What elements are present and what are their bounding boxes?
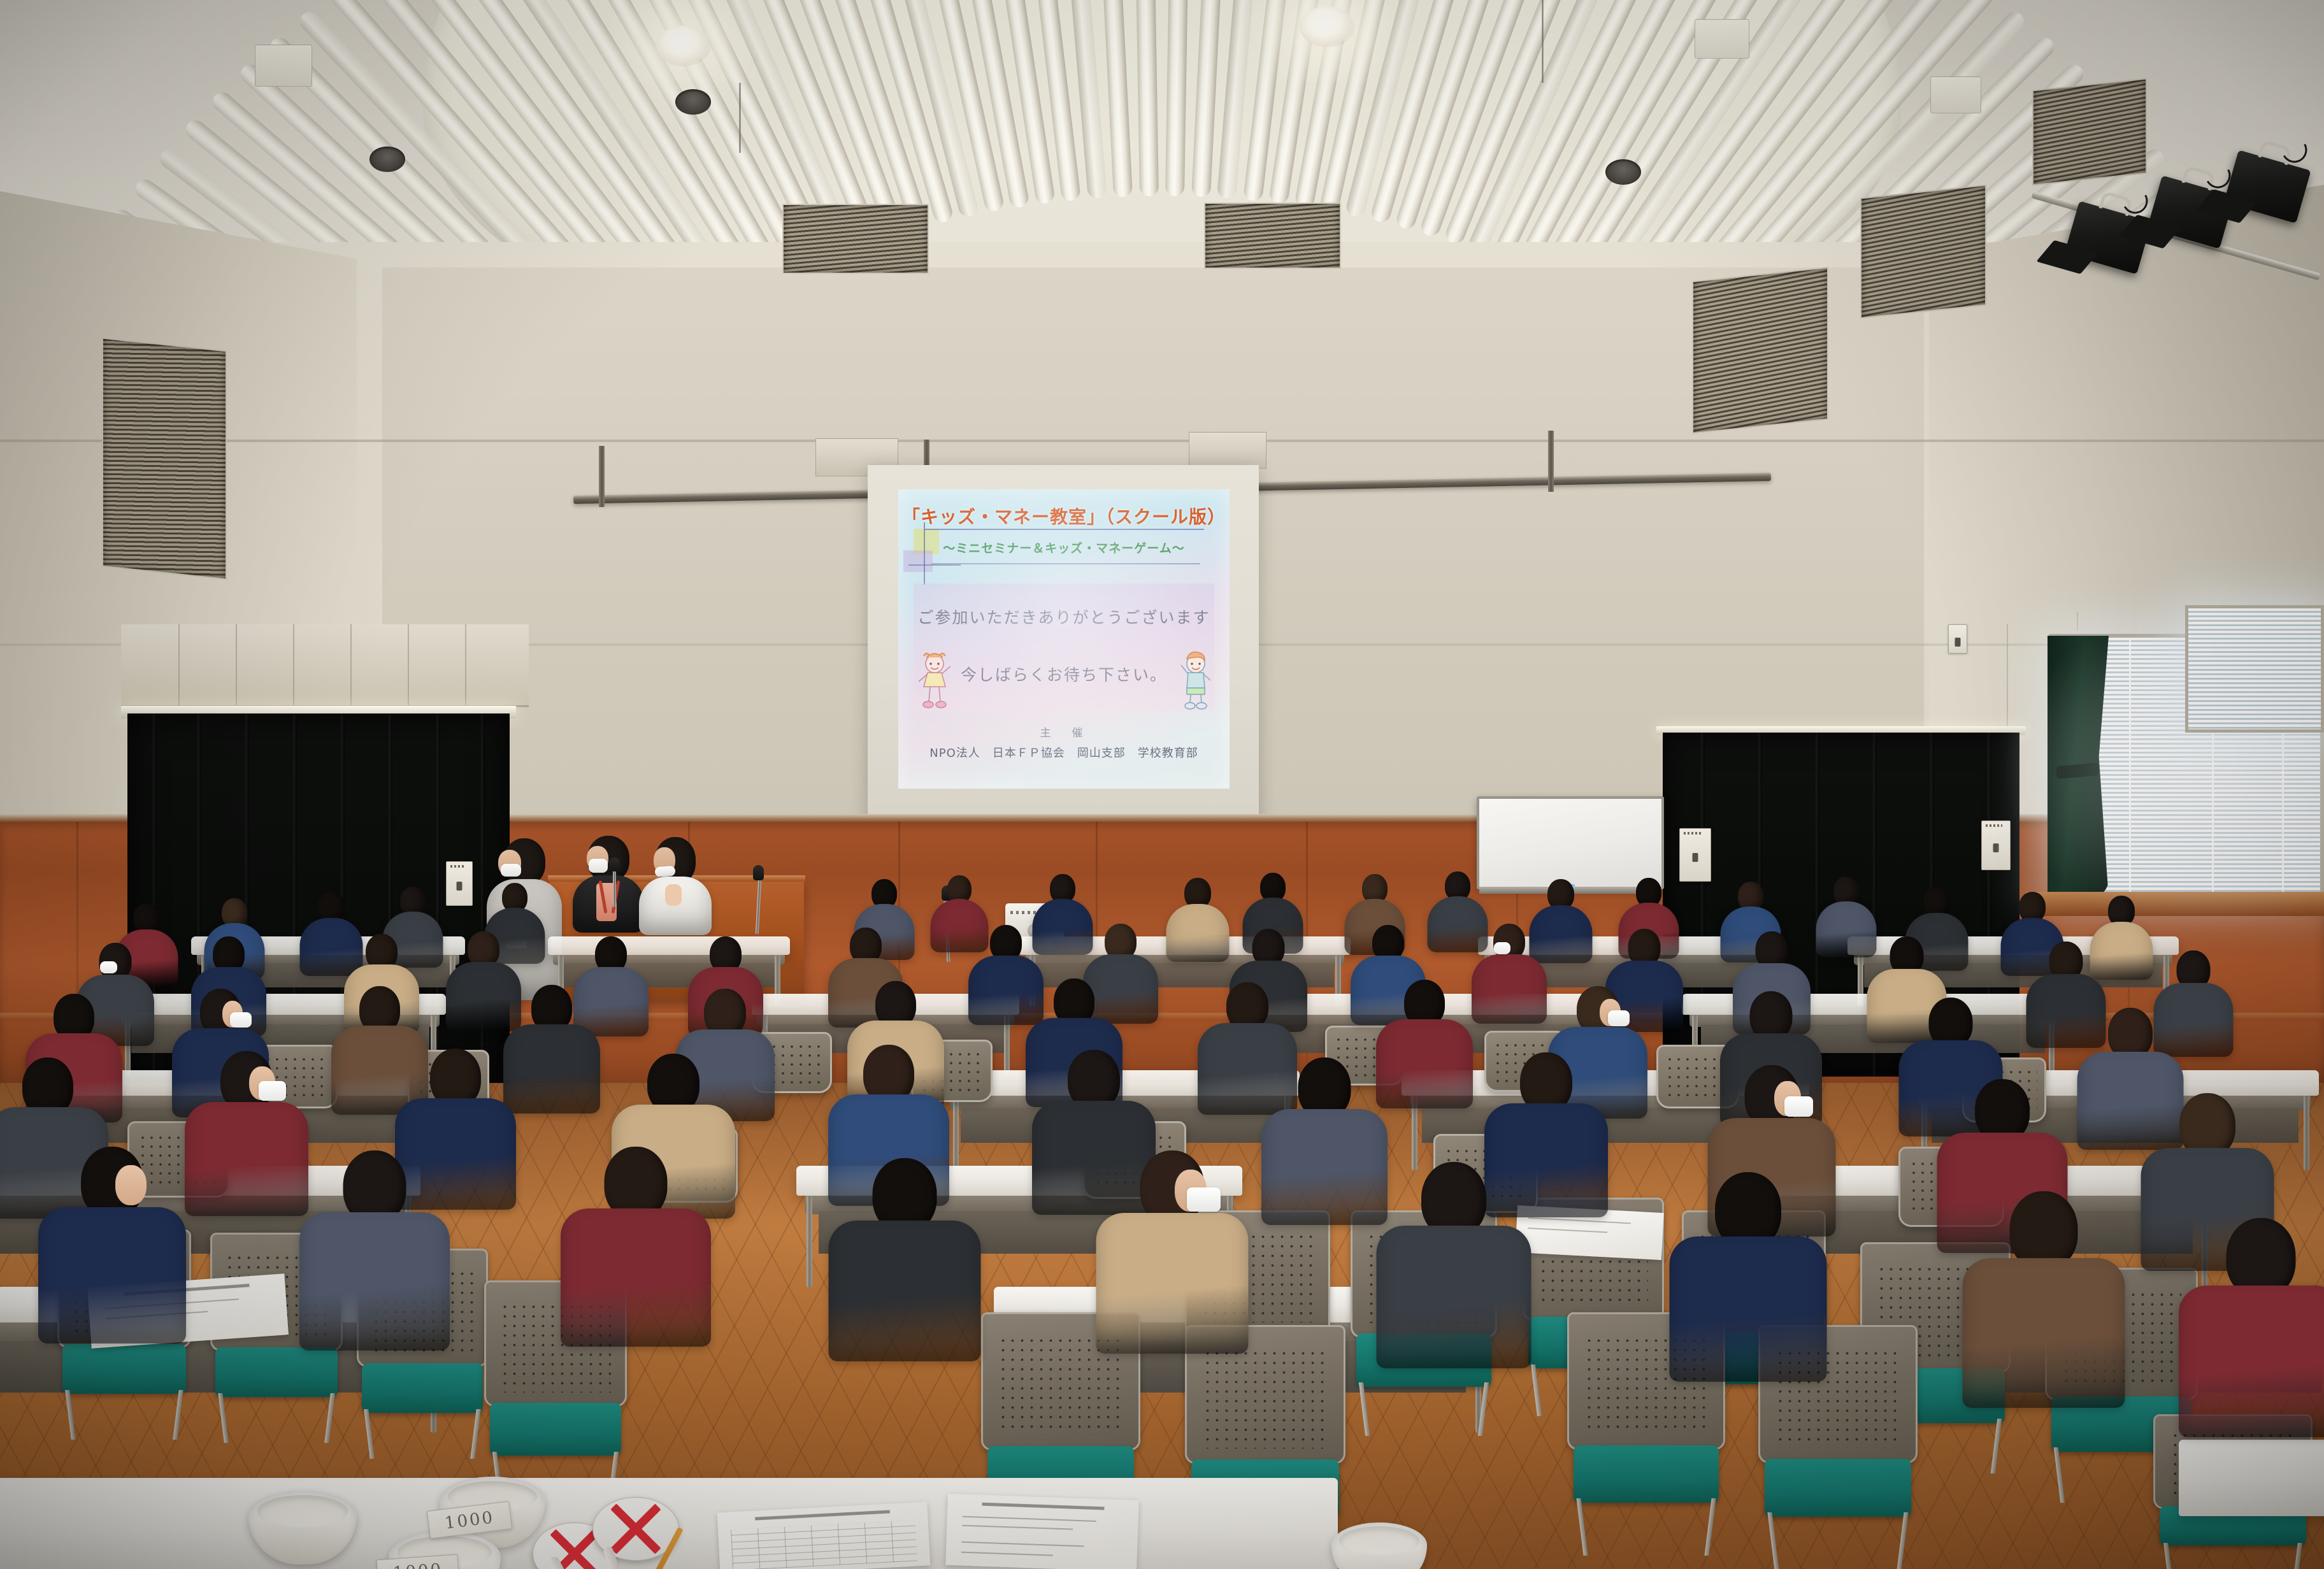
slide-canvas: 「キッズ・マネー教室」（スクール版） ～ミニセミナー＆キッズ・マネーゲーム～ ご… bbox=[898, 489, 1230, 789]
chair-legs bbox=[68, 1390, 180, 1440]
face-mask bbox=[230, 1012, 252, 1028]
wall-control-plate[interactable] bbox=[1679, 828, 1711, 882]
chair-legs bbox=[2166, 1543, 2300, 1569]
slide-highlight-band bbox=[914, 584, 1214, 711]
audience-member bbox=[828, 1158, 980, 1343]
wall-panel-seam bbox=[2077, 612, 2078, 631]
torso bbox=[1376, 1226, 1531, 1368]
stage-proscenium-header bbox=[121, 624, 529, 707]
audience-member bbox=[1962, 1191, 2125, 1387]
microphone-icon bbox=[609, 857, 620, 873]
ceiling-recess-icon bbox=[369, 147, 405, 172]
audience-member bbox=[1376, 980, 1473, 1097]
chair-legs bbox=[367, 1409, 477, 1459]
ventilation-grille-icon bbox=[1692, 267, 1828, 434]
pipe-bracket bbox=[599, 446, 605, 507]
microphone-stand bbox=[613, 871, 616, 907]
chair-seat bbox=[62, 1344, 185, 1394]
ceiling-fixture-box bbox=[1695, 19, 1749, 59]
ventilation-grille-icon bbox=[1204, 203, 1341, 269]
face-mask bbox=[1494, 942, 1510, 954]
face-mask bbox=[100, 961, 117, 973]
slide-title: 「キッズ・マネー教室」（スクール版） bbox=[898, 503, 1230, 529]
audience-member bbox=[2179, 1218, 2324, 1417]
microphone-icon bbox=[753, 865, 764, 880]
ventilation-grille-icon bbox=[1860, 185, 1986, 319]
audience-member bbox=[1096, 1150, 1248, 1335]
chair-seat bbox=[490, 1403, 621, 1456]
torso bbox=[1376, 1019, 1473, 1108]
ceiling-fixture-box bbox=[1930, 76, 1981, 113]
ventilation-grille-icon bbox=[2032, 78, 2147, 186]
torso bbox=[1096, 1213, 1248, 1354]
slide-host-org: NPO法人 日本ＦＰ協会 岡山支部 学校教育部 bbox=[898, 744, 1230, 761]
presenter-center bbox=[571, 836, 646, 931]
chair-seat bbox=[1574, 1445, 1719, 1503]
prop-bowl[interactable] bbox=[1331, 1522, 1427, 1569]
audience-member bbox=[38, 1147, 186, 1326]
face-mask bbox=[1608, 1010, 1630, 1026]
wall-control-plate[interactable] bbox=[1948, 624, 1967, 654]
torso bbox=[561, 1208, 711, 1347]
slide-subtitle-underline bbox=[931, 563, 1200, 564]
presenter-right bbox=[637, 837, 714, 933]
face bbox=[115, 1165, 147, 1205]
chair-seat bbox=[1765, 1459, 1911, 1517]
torso bbox=[38, 1207, 186, 1343]
torso bbox=[185, 1102, 308, 1216]
wall-control-plate[interactable] bbox=[1981, 820, 2011, 870]
torso bbox=[299, 1212, 450, 1350]
whiteboard bbox=[1477, 796, 1664, 889]
screen-roller-housing bbox=[1189, 432, 1266, 469]
slide-host-label: 主 催 bbox=[898, 724, 1230, 740]
seminar-hall-photo: 「キッズ・マネー教室」（スクール版） ～ミニセミナー＆キッズ・マネーゲーム～ ご… bbox=[0, 0, 2324, 1569]
audience-member bbox=[1166, 878, 1229, 954]
face-mask bbox=[1187, 1187, 1221, 1212]
torso bbox=[1166, 904, 1229, 962]
ceiling-hanger-rod bbox=[1542, 0, 1544, 83]
face-mask bbox=[1784, 1096, 1813, 1117]
ceiling-fixture-box bbox=[255, 45, 312, 87]
ceiling-hanger-rod bbox=[739, 83, 741, 153]
chair-legs bbox=[1580, 1498, 1712, 1556]
slide-decoration-line bbox=[908, 564, 961, 566]
torso bbox=[1261, 1109, 1388, 1225]
audience-member bbox=[1261, 1057, 1388, 1210]
ceiling-light-icon bbox=[1300, 6, 1354, 47]
chair-seat bbox=[215, 1347, 337, 1397]
worksheet-table[interactable] bbox=[717, 1501, 931, 1569]
ventilation-grille-icon bbox=[102, 338, 227, 580]
torso bbox=[503, 1024, 600, 1114]
stage-light-icon bbox=[2223, 150, 2311, 223]
audience-member bbox=[1472, 924, 1547, 1015]
projection-screen: 「キッズ・マネー教室」（スクール版） ～ミニセミナー＆キッズ・マネーゲーム～ ご… bbox=[868, 465, 1259, 822]
ceiling-light-icon bbox=[656, 25, 711, 66]
wall-control-plate[interactable] bbox=[446, 861, 473, 906]
chair-legs bbox=[221, 1393, 333, 1443]
audience-member bbox=[561, 1147, 711, 1328]
chair-legs bbox=[1362, 1382, 1485, 1436]
pipe-bracket bbox=[1548, 431, 1554, 492]
torso bbox=[1669, 1236, 1826, 1382]
worksheet-handout[interactable] bbox=[945, 1494, 1139, 1569]
audience-member bbox=[299, 1150, 450, 1332]
torso bbox=[2179, 1286, 2324, 1437]
girl-clipart-icon bbox=[915, 648, 954, 715]
table-leg bbox=[2304, 1096, 2309, 1170]
audience-member bbox=[503, 985, 600, 1102]
torso bbox=[828, 1221, 980, 1361]
ceiling-recess-icon bbox=[1605, 159, 1641, 185]
slide-welcome-text: ご参加いただきありがとうございます bbox=[898, 605, 1230, 628]
face-mask bbox=[259, 1081, 286, 1101]
ventilation-grille-icon bbox=[782, 204, 929, 274]
window-blinds[interactable] bbox=[2188, 608, 2321, 729]
ceiling-recess-icon bbox=[675, 89, 711, 115]
window-sill bbox=[2026, 892, 2324, 916]
audience-member bbox=[1376, 1162, 1531, 1349]
chair-seat bbox=[362, 1363, 483, 1413]
wall-trim-band bbox=[0, 440, 2324, 442]
window bbox=[2185, 605, 2324, 733]
torso bbox=[1472, 954, 1547, 1024]
slide-subtitle: ～ミニセミナー＆キッズ・マネーゲーム～ bbox=[898, 539, 1230, 556]
torso bbox=[1962, 1258, 2125, 1408]
audience-member bbox=[1669, 1172, 1826, 1363]
audience-member bbox=[185, 1051, 308, 1201]
foreground-table-right bbox=[2179, 1440, 2324, 1516]
chair-legs bbox=[1771, 1512, 1905, 1569]
table-leg bbox=[807, 1196, 812, 1287]
boy-clipart-icon bbox=[1176, 648, 1216, 715]
slide-title-underline bbox=[925, 529, 1204, 530]
